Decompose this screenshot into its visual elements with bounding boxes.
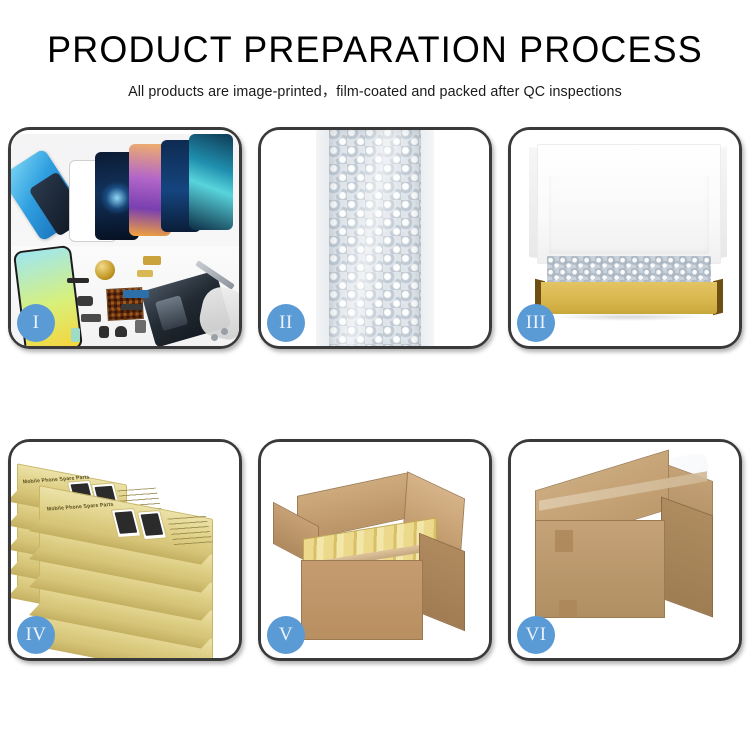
page-title: PRODUCT PREPARATION PROCESS: [11, 31, 739, 68]
flex-cable-icon: [67, 278, 89, 283]
plastic-sheen-overlay: [316, 130, 434, 346]
product-preparation-process-infographic: PRODUCT PREPARATION PROCESS All products…: [0, 0, 750, 750]
header: PRODUCT PREPARATION PROCESS All products…: [0, 0, 750, 101]
step-badge-2: II: [267, 304, 305, 342]
step-badge-6: VI: [517, 616, 555, 654]
carton-flap-tab: [559, 600, 577, 618]
receiver-icon: [115, 326, 127, 337]
vibration-coil-icon: [95, 260, 115, 280]
step-panel-2: II: [258, 127, 492, 349]
step-panel-6: VI: [508, 439, 742, 661]
foam-sheet-icon: [549, 176, 709, 254]
step-badge-4: IV: [17, 616, 55, 654]
box-label-text: Mobile Phone Spare Parts: [46, 502, 114, 513]
gold-flex-icon: [137, 270, 153, 277]
sim-tray-icon: [135, 320, 146, 333]
drop-shadow: [551, 313, 707, 321]
kraft-box-tray-icon: [541, 282, 717, 314]
step-badge-3: III: [517, 304, 555, 342]
page-subtitle: All products are image-printed，film-coat…: [0, 80, 750, 101]
ribbon-cable-icon: [121, 304, 143, 310]
phone-teal-icon: [189, 134, 233, 230]
gold-contact-icon: [143, 256, 161, 265]
step-panel-3: III: [508, 127, 742, 349]
blue-flex-icon: [123, 290, 149, 298]
camera-module-icon: [77, 296, 93, 306]
connector-icon: [81, 314, 101, 322]
speaker-icon: [99, 326, 109, 338]
step-panel-1: I: [8, 127, 242, 349]
battery-connector-icon: [71, 328, 80, 342]
step-badge-1: I: [17, 304, 55, 342]
screw-icon: [221, 328, 228, 335]
carton-flap-tab: [555, 530, 573, 552]
screw-icon: [211, 334, 218, 341]
carton-right-face: [661, 497, 713, 618]
step-panel-5: V: [258, 439, 492, 661]
step-panel-4: Mobile Phone Spare Parts Mobile Phone Sp…: [8, 439, 242, 661]
carton-front-face: [301, 560, 423, 640]
steps-grid: I II III: [8, 127, 742, 661]
step-badge-5: V: [267, 616, 305, 654]
